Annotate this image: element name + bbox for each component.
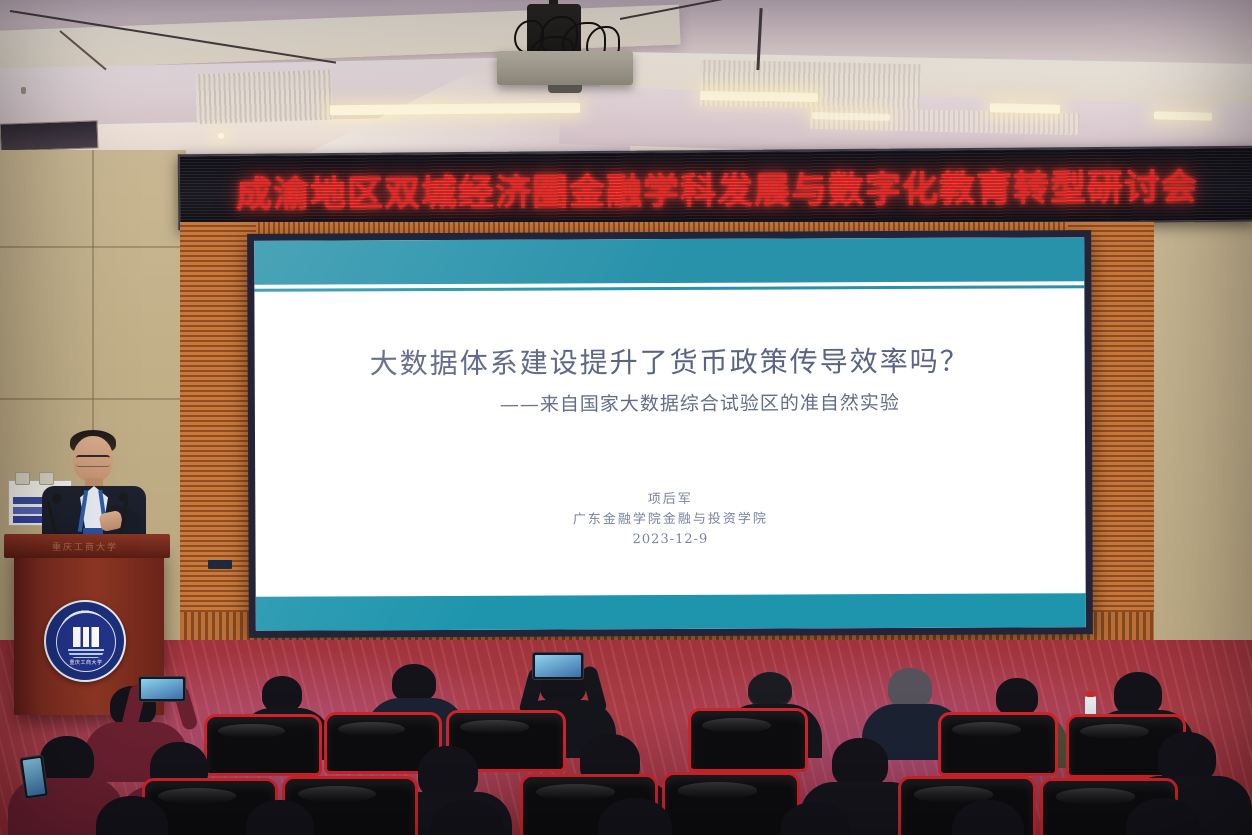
wood-slat-panel-left: [180, 222, 256, 640]
glasses-icon: [76, 455, 110, 467]
slide-subtitle: ——来自国家大数据综合试验区的准自然实验: [255, 387, 1085, 418]
smartphone-icon[interactable]: [532, 652, 584, 680]
ceiling-dark-panel: [0, 120, 98, 151]
presentation-slide: 大数据体系建设提升了货币政策传导效率吗？ ——来自国家大数据综合试验区的准自然实…: [254, 237, 1086, 631]
photo-scene: 成渝地区双城经济圈金融学科发展与数字化教育转型研讨会 大数据体系建设提升了货币政…: [0, 0, 1252, 835]
audience-head-with-cap: [748, 672, 792, 708]
audience-head: [262, 676, 302, 712]
wall-panel-right: [1140, 150, 1252, 655]
slide-header-band: [254, 237, 1084, 285]
ceiling-vent: [700, 60, 921, 111]
ceiling-light: [990, 103, 1060, 114]
wall-box-knob: [15, 472, 30, 485]
slide-date: 2023-12-9: [255, 528, 1085, 552]
ceiling-projector: [497, 51, 633, 85]
microphone-head-icon: [52, 494, 61, 504]
slide-content: 大数据体系建设提升了货币政策传导效率吗？ ——来自国家大数据综合试验区的准自然实…: [254, 293, 1085, 597]
lectern-rail-text: 重庆工商大学: [18, 540, 152, 553]
slide-divider-rule: [254, 285, 1084, 292]
emblem-mountain-mark: [73, 627, 99, 647]
slide-footer-band: [256, 593, 1086, 631]
led-banner-text: 成渝地区双城经济圈金融学科发展与数字化教育转型研讨会: [236, 158, 1198, 218]
ceiling-light: [1154, 111, 1212, 120]
slide-presenter-block: 项后军 广东金融学院金融与投资学院 2023-12-9: [255, 488, 1085, 552]
auditorium-seat: [204, 714, 322, 776]
led-banner: 成渝地区双城经济圈金融学科发展与数字化教育转型研讨会: [178, 146, 1252, 230]
auditorium-seat: [938, 712, 1058, 776]
audience-head: [392, 664, 436, 702]
slide-title: 大数据体系建设提升了货币政策传导效率吗？: [255, 339, 1085, 383]
projection-screen[interactable]: 大数据体系建设提升了货币政策传导效率吗？ ——来自国家大数据综合试验区的准自然实…: [247, 230, 1093, 638]
ceiling-vent: [195, 70, 333, 125]
audience: [0, 650, 1252, 835]
ceiling-downlight: [218, 133, 224, 139]
auditorium-seat: [688, 708, 808, 772]
audience-head: [40, 736, 94, 784]
sprinkler-icon: [21, 87, 26, 94]
audience-head-gray-hair: [888, 668, 932, 708]
microphone-head-icon: [119, 492, 128, 502]
wall-nameplate: [208, 560, 232, 569]
audience-head: [996, 678, 1038, 716]
audience-head: [832, 738, 888, 788]
smartphone-icon[interactable]: [138, 676, 186, 702]
wall-box-knob: [39, 472, 54, 485]
projector-lens-icon: [548, 85, 582, 93]
